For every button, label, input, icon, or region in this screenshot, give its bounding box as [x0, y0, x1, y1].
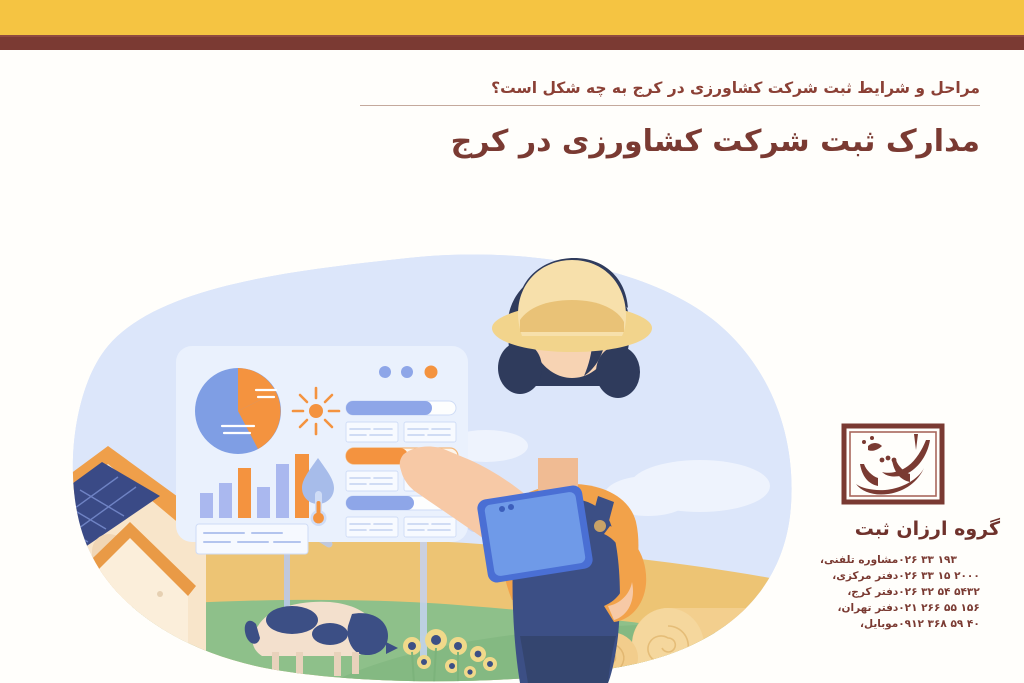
hero-illustration: [0, 196, 820, 683]
info-chip: [346, 422, 398, 442]
contact-number[interactable]: ۵۴۳۲ ۵۴ ۳۲ ۰۲۶: [898, 584, 1000, 600]
contact-row: ۵۴۳۲ ۵۴ ۳۲ ۰۲۶ دفتر کرج،: [820, 584, 1000, 600]
top-maroon-highlight: [0, 35, 1024, 37]
contact-row: ۴۰ ۵۹ ۳۶۸ ۰۹۱۲ موبایل،: [820, 616, 1000, 632]
contact-label: دفتر مرکزی،: [820, 568, 898, 584]
pie-chart: [195, 368, 281, 454]
page-title: مدارک ثبت شرکت کشاورزی در کرج: [360, 122, 980, 162]
tablet: [476, 484, 594, 584]
caption-box: [196, 524, 308, 554]
heading-block: مراحل و شرایط ثبت شرکت کشاورزی در کرج به…: [360, 78, 980, 162]
info-chip: [404, 422, 456, 442]
bush: [0, 650, 108, 683]
contact-row: ۱۵۶ ۵۵ ۲۶۶ ۰۲۱ دفتر تهران،: [820, 600, 1000, 616]
brand-name: گروه ارزان ثبت: [820, 516, 1000, 542]
contact-number[interactable]: ۴۰ ۵۹ ۳۶۸ ۰۹۱۲: [898, 616, 1000, 632]
info-chip: [346, 517, 398, 537]
page-subtitle: مراحل و شرایط ثبت شرکت کشاورزی در کرج به…: [360, 78, 980, 106]
top-gold-band: [0, 0, 1024, 35]
contact-label: دفتر تهران،: [820, 600, 898, 616]
page-root: مراحل و شرایط ثبت شرکت کشاورزی در کرج به…: [0, 0, 1024, 683]
sun-icon: [293, 388, 339, 434]
info-chip: [346, 471, 398, 491]
contact-label: موبایل،: [820, 616, 898, 632]
contact-number[interactable]: ۲۰۰۰ ۱۵ ۳۳ ۰۲۶: [898, 568, 1000, 584]
contact-row: ۱۹۳ ۳۳ ۰۲۶ مشاوره تلفنی،: [820, 552, 1000, 568]
contact-number[interactable]: ۱۹۳ ۳۳ ۰۲۶: [898, 552, 1000, 568]
info-chip: [404, 517, 456, 537]
top-maroon-band: [0, 35, 1024, 50]
arzan-sabt-logo-icon: [838, 420, 948, 508]
contact-label: مشاوره تلفنی،: [820, 552, 898, 568]
contact-row: ۲۰۰۰ ۱۵ ۳۳ ۰۲۶ دفتر مرکزی،: [820, 568, 1000, 584]
contact-list: ۱۹۳ ۳۳ ۰۲۶ مشاوره تلفنی، ۲۰۰۰ ۱۵ ۳۳ ۰۲۶ …: [820, 552, 1000, 632]
contact-label: دفتر کرج،: [820, 584, 898, 600]
brand-block: گروه ارزان ثبت ۱۹۳ ۳۳ ۰۲۶ مشاوره تلفنی، …: [820, 420, 1000, 632]
panel-dot: [425, 366, 438, 379]
panel-dot: [379, 366, 391, 378]
contact-number[interactable]: ۱۵۶ ۵۵ ۲۶۶ ۰۲۱: [898, 600, 1000, 616]
panel-dot: [401, 366, 413, 378]
